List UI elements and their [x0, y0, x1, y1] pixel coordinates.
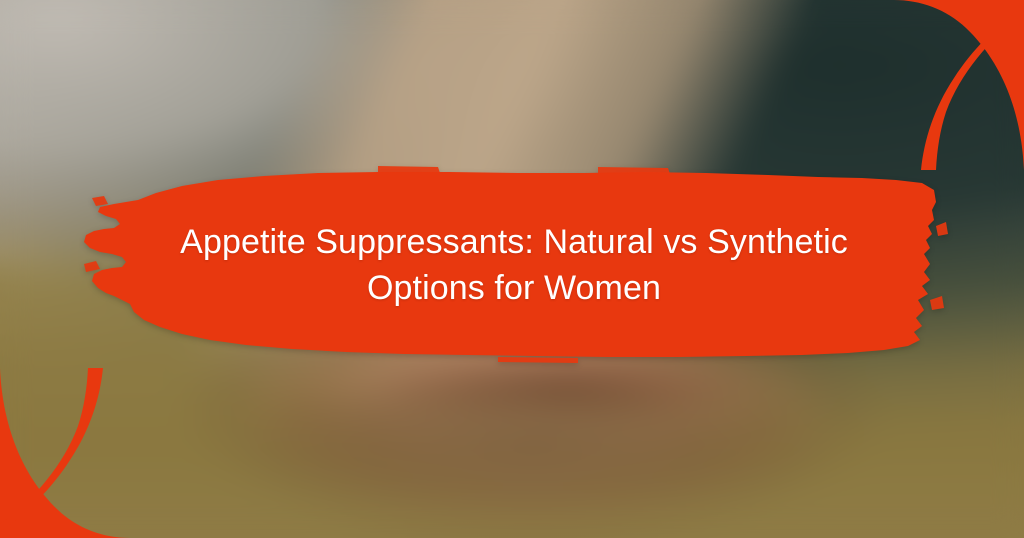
page-title: Appetite Suppressants: Natural vs Synthe…: [78, 160, 950, 365]
corner-swoosh-top-right-icon: [894, 0, 1024, 170]
page-title-line-1: Appetite Suppressants: Natural vs Synthe…: [180, 219, 848, 265]
corner-swoosh-bottom-left-icon: [0, 368, 130, 538]
blog-featured-image-banner: Appetite Suppressants: Natural vs Synthe…: [0, 0, 1024, 538]
title-brush-banner: Appetite Suppressants: Natural vs Synthe…: [78, 160, 950, 365]
page-title-line-2: Options for Women: [367, 265, 661, 311]
